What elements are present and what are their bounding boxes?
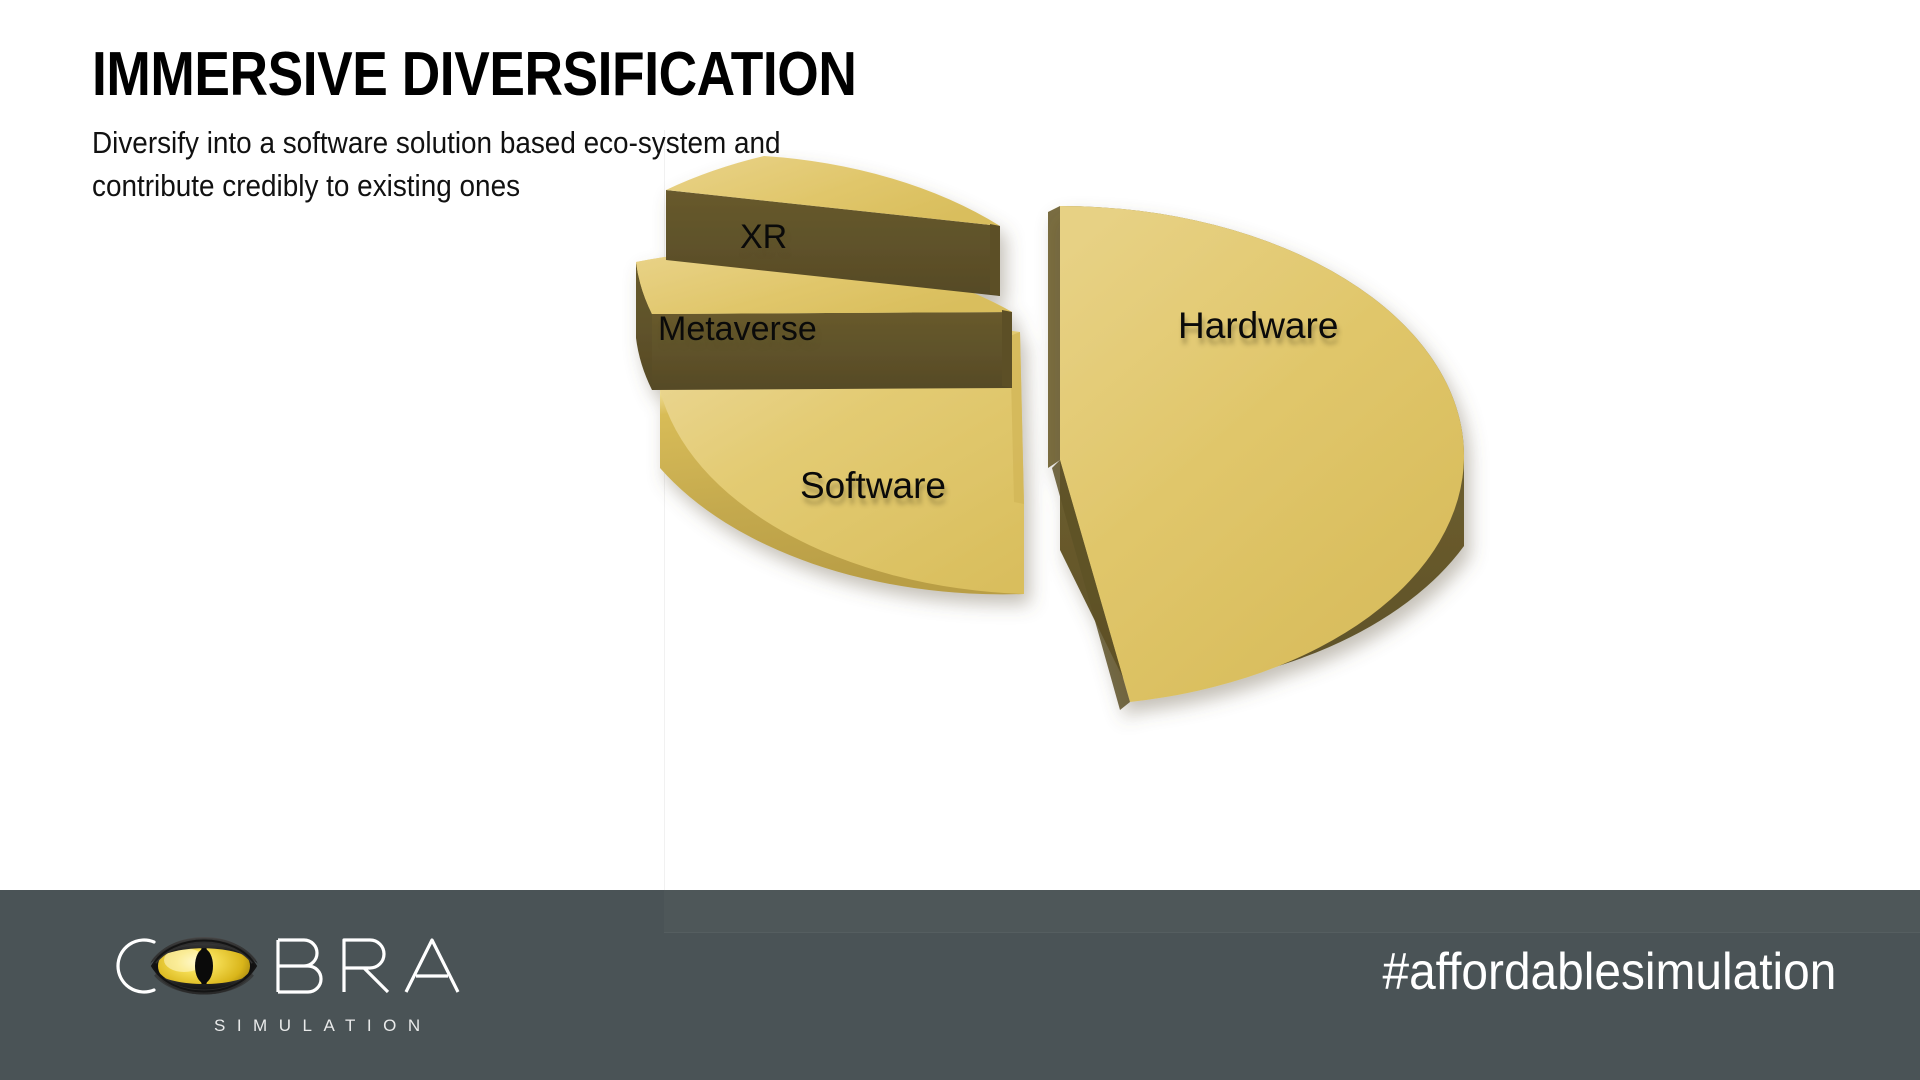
- hashtag-text: #affordablesimulation: [1382, 942, 1836, 1002]
- pie-label-hardware: Hardware: [1178, 305, 1338, 347]
- pie-chart: Hardware Software Metaverse XR: [600, 150, 1620, 750]
- slide-root: IMMERSIVE DIVERSIFICATION Diversify into…: [0, 0, 1920, 1080]
- page-title: IMMERSIVE DIVERSIFICATION: [92, 40, 866, 110]
- pie-label-metaverse: Metaverse: [658, 310, 817, 349]
- footer-overlay-panel: [664, 890, 1920, 933]
- logo-subtitle: SIMULATION: [214, 1016, 432, 1036]
- pie-slice-hardware[interactable]: [1048, 206, 1464, 710]
- cobra-logo[interactable]: SIMULATION: [96, 918, 526, 1048]
- cobra-letters-svg: [96, 918, 526, 1014]
- footer-bar: SIMULATION #affordablesimulation: [0, 890, 1920, 1080]
- pie-label-xr: XR: [740, 218, 787, 257]
- pie-label-software: Software: [800, 465, 946, 507]
- cobra-wordmark: [96, 918, 526, 1010]
- eye-icon: [150, 937, 258, 995]
